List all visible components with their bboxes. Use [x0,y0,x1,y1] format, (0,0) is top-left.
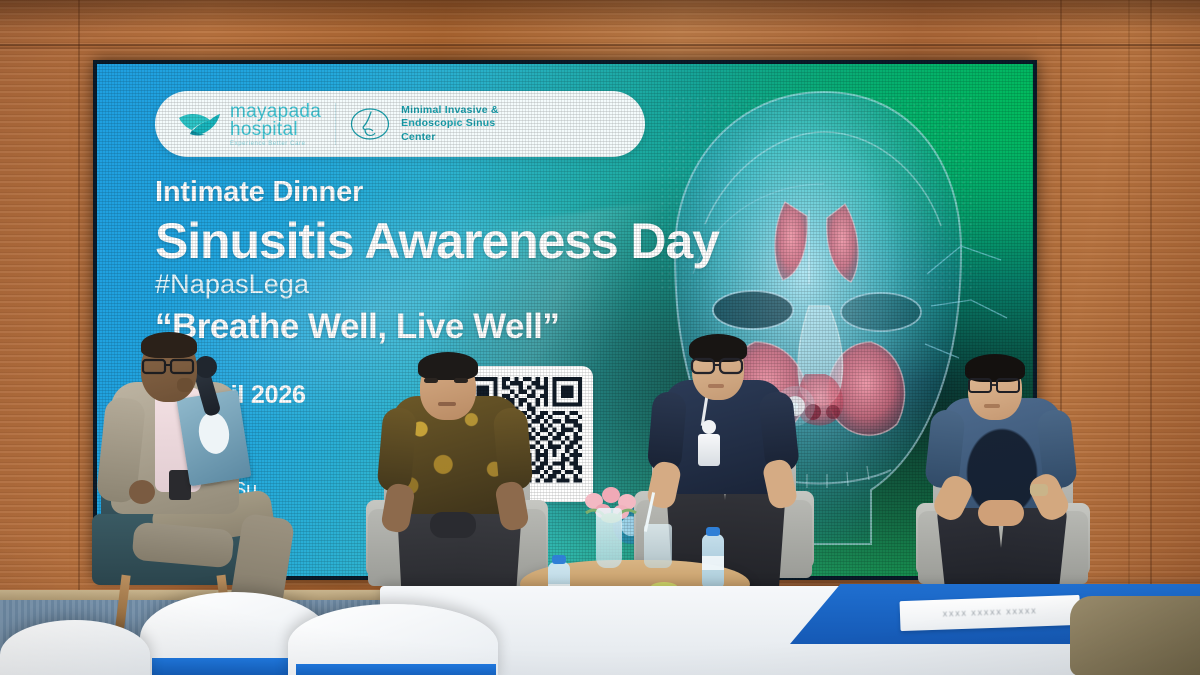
speaker-4-mouth [984,404,1000,408]
speaker-4-watch [1030,484,1048,496]
unit-line-1: Minimal Invasive & [401,104,499,117]
speaker-4-clasped-hands [978,500,1024,526]
bottle-cap [706,527,720,536]
speaker-1-hand-2 [129,480,155,504]
speaker-2-arm-right [492,407,533,492]
brand-line-2: hospital [230,120,321,139]
speaker-2-eye-right [454,378,468,383]
banner-title: Sinusitis Awareness Day [155,212,719,270]
speaker-3-glasses [689,356,749,376]
sinus-center-lockup: Minimal Invasive & Endoscopic Sinus Cent… [350,104,499,144]
flower-vase [596,508,622,568]
logo-pill: mayapada hospital Experience Better Care [155,91,645,157]
wood-seam [1128,0,1130,675]
wood-seam [0,44,1200,46]
nose-profile-icon [350,104,390,144]
speaker-1-glasses [139,356,201,376]
wood-seam [1150,0,1152,675]
speaker-4-glasses [966,376,1026,396]
ceiling-shadow [0,0,1200,30]
name-card-text: XXXX XXXXX XXXXX [942,608,1037,618]
banner-kicker: Intimate Dinner [155,176,363,209]
wood-seam [0,47,1200,49]
mayapada-wing-icon [177,109,221,139]
speaker-3-mouth [708,384,724,388]
khaki-bag [1070,596,1200,675]
brand-tagline: Experience Better Care [230,141,321,147]
chair-sash [296,664,496,675]
unit-line-2: Endoscopic Sinus [401,117,499,130]
drink-glass [644,524,672,568]
mayapada-brand-lockup: mayapada hospital Experience Better Care [177,102,321,147]
brand-line-1: mayapada [230,102,321,121]
banner-hashtag: #NapasLega [155,269,309,300]
speaker-1 [95,330,310,640]
pill-divider [335,103,336,145]
speaker-2-hair [418,352,478,380]
bottle-cap [552,555,566,564]
bottle-label [702,556,724,570]
event-photo-scene: mayapada hospital Experience Better Care [0,0,1200,675]
speaker-1-mouth-area [177,378,193,392]
sinus-center-name: Minimal Invasive & Endoscopic Sinus Cent… [401,104,499,144]
speaker-2-held-mic [430,512,476,538]
water-bottle[interactable] [702,534,724,588]
unit-line-3: Center [401,131,499,144]
speaker-2-mouth [438,402,456,406]
table-name-card: XXXX XXXXX XXXXX [900,595,1081,631]
staff-id-badge [698,434,720,466]
badge-reel [702,420,716,434]
speaker-1-thigh-2 [132,522,235,569]
speaker-2-eye-left [424,378,438,383]
wood-seam [78,0,80,675]
speaker-1-hair [141,332,197,358]
mayapada-wordmark: mayapada hospital Experience Better Care [230,102,321,147]
